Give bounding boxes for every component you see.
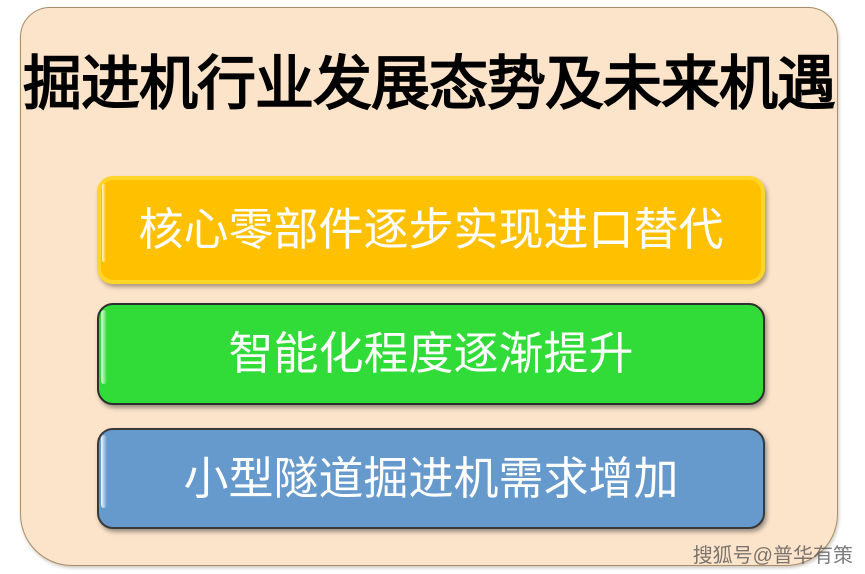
watermark: 搜狐号@普华有策 [693,544,853,568]
highlight-bar-1[interactable]: 核心零部件逐步实现进口替代 [97,176,765,284]
page-title: 掘进机行业发展态势及未来机遇 [20,48,838,120]
bar-highlight-edge [101,310,107,384]
highlight-bar-2-label: 智能化程度逐渐提升 [228,328,633,380]
slide-canvas: 掘进机行业发展态势及未来机遇 核心零部件逐步实现进口替代 智能化程度逐渐提升 小… [0,0,865,574]
bar-highlight-edge [101,435,107,508]
highlight-bar-3[interactable]: 小型隧道掘进机需求增加 [97,428,765,529]
highlight-bar-3-label: 小型隧道掘进机需求增加 [183,453,678,505]
highlight-bar-1-label: 核心零部件逐步实现进口替代 [138,204,723,256]
bar-highlight-edge [102,184,106,262]
highlight-bar-2[interactable]: 智能化程度逐渐提升 [97,303,765,405]
